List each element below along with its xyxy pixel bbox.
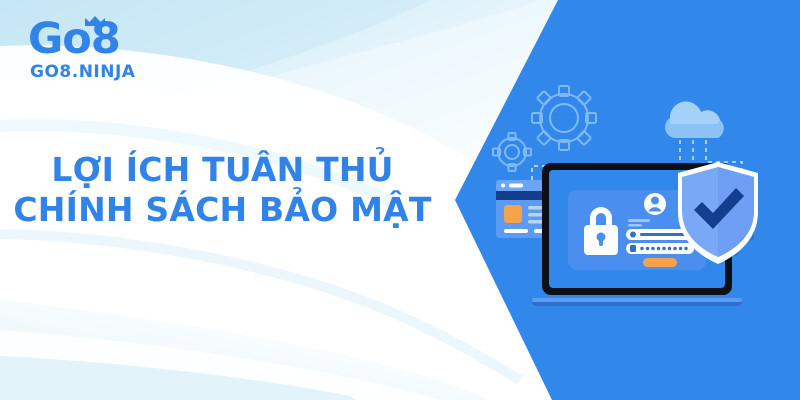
data-security-illustration (480, 70, 800, 330)
password-input[interactable] (626, 243, 694, 254)
logo-subtitle: GO8.NINJA (30, 63, 204, 82)
logo-wordmark: Go8 (24, 18, 204, 61)
submit-button[interactable] (643, 258, 677, 267)
user-avatar-icon (644, 193, 666, 215)
gear-large-icon (532, 86, 596, 150)
headline-line-1: LỢI ÍCH TUÂN THỦ (0, 150, 445, 190)
page-title: LỢI ÍCH TUÂN THỦ CHÍNH SÁCH BẢO MẬT (0, 150, 445, 230)
cloud-icon (665, 102, 724, 138)
banner-canvas: Go8 GO8.NINJA LỢI ÍCH TUÂN THỦ CHÍNH SÁC… (0, 0, 800, 400)
crown-icon (84, 15, 106, 27)
gear-small-icon (493, 133, 531, 171)
brand-logo[interactable]: Go8 GO8.NINJA (24, 18, 204, 86)
headline-line-2: CHÍNH SÁCH BẢO MẬT (0, 190, 445, 230)
